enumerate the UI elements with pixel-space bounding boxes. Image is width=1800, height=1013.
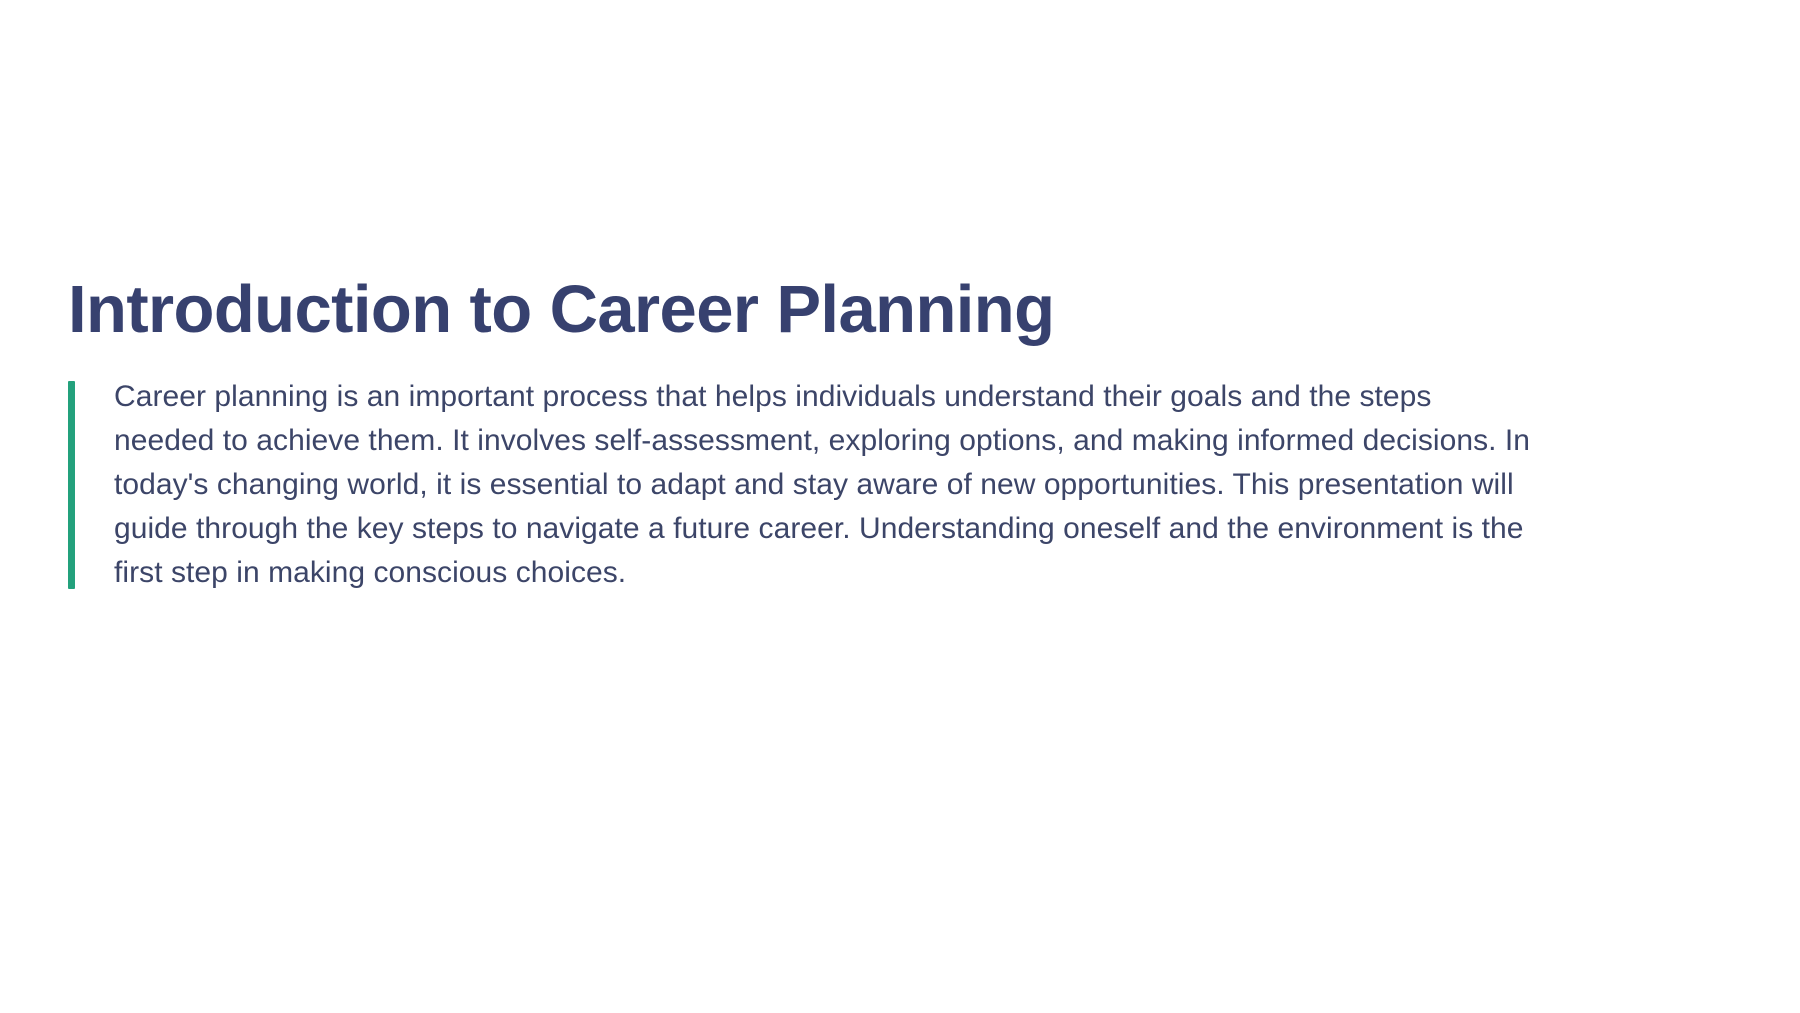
page-title: Introduction to Career Planning [68, 272, 1728, 347]
body-paragraph: Career planning is an important process … [114, 375, 1534, 595]
accent-bar [68, 381, 75, 589]
slide-content: Introduction to Career Planning Career p… [68, 272, 1728, 595]
body-block: Career planning is an important process … [68, 375, 1728, 595]
slide-canvas: Introduction to Career Planning Career p… [0, 0, 1800, 1013]
